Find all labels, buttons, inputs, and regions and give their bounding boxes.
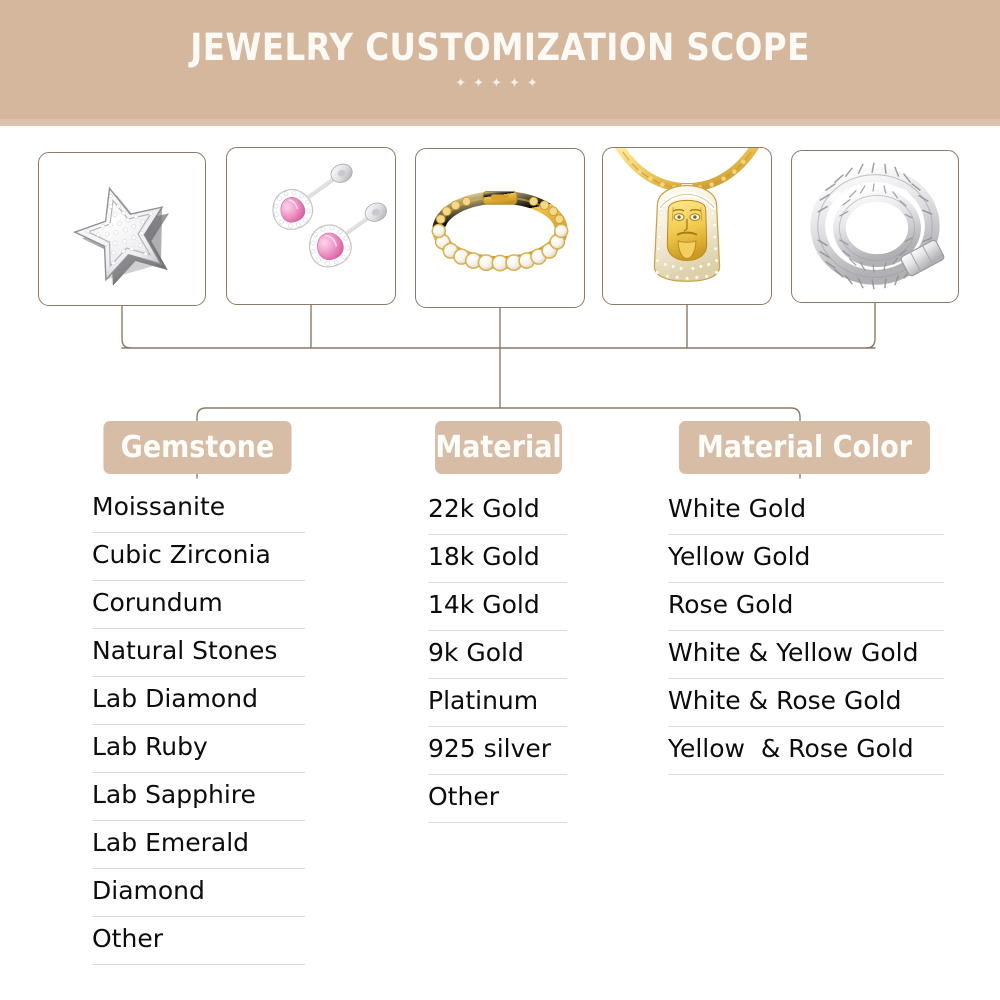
option-item[interactable]: Natural Stones <box>92 629 305 677</box>
product-card-tennis-bracelet[interactable] <box>415 148 585 308</box>
option-list-material-color: White Gold Yellow Gold Rose Gold White &… <box>668 487 944 775</box>
option-item[interactable]: 22k Gold <box>428 487 567 535</box>
option-item[interactable]: Rose Gold <box>668 583 944 631</box>
category-badge-material-color[interactable]: Material Color <box>679 421 930 474</box>
option-item[interactable]: Platinum <box>428 679 567 727</box>
option-list-gemstone: Moissanite Cubic Zirconia Corundum Natur… <box>92 485 305 965</box>
option-item[interactable]: White & Rose Gold <box>668 679 944 727</box>
pink-stud-earrings-icon <box>227 148 395 304</box>
option-item[interactable]: Lab Diamond <box>92 677 305 725</box>
product-card-jesus-piece-pendant[interactable] <box>602 147 772 305</box>
option-item[interactable]: Lab Emerald <box>92 821 305 869</box>
page-title: JEWELRY CUSTOMIZATION SCOPE <box>60 26 940 69</box>
option-item[interactable]: White Gold <box>668 487 944 535</box>
option-item[interactable]: Yellow & Rose Gold <box>668 727 944 775</box>
option-item[interactable]: Diamond <box>92 869 305 917</box>
star-pendant-icon <box>39 153 205 305</box>
option-item[interactable]: Yellow Gold <box>668 535 944 583</box>
option-item[interactable]: Moissanite <box>92 485 305 533</box>
option-item[interactable]: Corundum <box>92 581 305 629</box>
header-banner-underline <box>0 119 1000 126</box>
option-item[interactable]: 18k Gold <box>428 535 567 583</box>
product-card-cuban-link-chain[interactable] <box>791 150 959 303</box>
jesus-piece-pendant-icon <box>603 148 771 304</box>
option-item[interactable]: Lab Ruby <box>92 725 305 773</box>
option-item[interactable]: Lab Sapphire <box>92 773 305 821</box>
product-card-star-pendant[interactable] <box>38 152 206 306</box>
option-item[interactable]: Other <box>428 775 567 823</box>
star-rating-decoration: ✦✦✦✦✦ <box>0 76 1000 90</box>
option-item[interactable]: 14k Gold <box>428 583 567 631</box>
option-item[interactable]: Cubic Zirconia <box>92 533 305 581</box>
category-badge-gemstone[interactable]: Gemstone <box>103 421 291 474</box>
cuban-link-chain-icon <box>792 151 958 302</box>
product-card-pink-stud-earrings[interactable] <box>226 147 396 305</box>
option-item[interactable]: 9k Gold <box>428 631 567 679</box>
option-item[interactable]: 925 silver <box>428 727 567 775</box>
option-item[interactable]: Other <box>92 917 305 965</box>
tennis-bracelet-icon <box>416 149 584 307</box>
option-item[interactable]: White & Yellow Gold <box>668 631 944 679</box>
infographic-page: JEWELRY CUSTOMIZATION SCOPE ✦✦✦✦✦ <box>0 0 1000 1000</box>
option-list-material: 22k Gold 18k Gold 14k Gold 9k Gold Plati… <box>428 487 567 823</box>
category-badge-material[interactable]: Material <box>435 421 562 474</box>
